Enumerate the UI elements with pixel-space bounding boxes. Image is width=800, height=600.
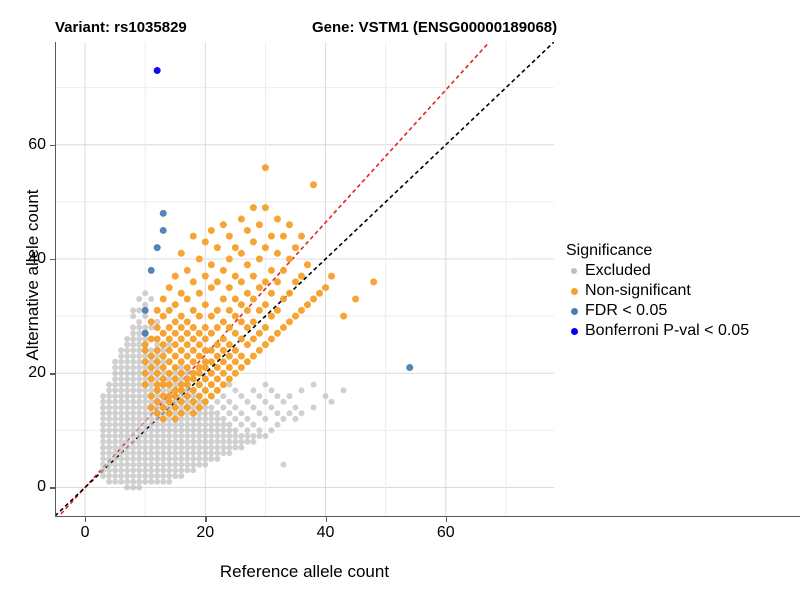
legend-item-label: FDR < 0.05	[585, 303, 667, 319]
x-tick-label: 0	[81, 524, 90, 542]
x-tick-mark	[446, 517, 447, 522]
gene-title: Gene: VSTM1 (ENSG00000189068)	[312, 19, 557, 36]
legend-swatch-icon	[566, 303, 582, 319]
x-tick-label: 40	[317, 524, 335, 542]
x-tick-mark	[326, 517, 327, 522]
legend-items: ExcludedNon-significantFDR < 0.05Bonferr…	[566, 261, 749, 341]
y-tick-mark	[50, 373, 55, 374]
data-points	[55, 42, 554, 516]
y-tick-mark	[50, 145, 55, 146]
x-tick-label: 60	[437, 524, 455, 542]
variant-title: Variant: rs1035829	[55, 19, 187, 36]
legend-item-non-significant[interactable]: Non-significant	[566, 281, 749, 301]
legend-item-label: Excluded	[585, 263, 651, 279]
x-axis-line	[55, 516, 800, 517]
series-bonferroni-p-val-0-05	[154, 67, 161, 74]
legend-swatch-icon	[566, 263, 582, 279]
legend-dot-icon	[571, 288, 578, 295]
x-axis-title: Reference allele count	[55, 562, 554, 582]
legend-item-label: Non-significant	[585, 283, 691, 299]
legend-dot-icon	[571, 268, 577, 274]
legend-item-bonferroni-p-val-0-05[interactable]: Bonferroni P-val < 0.05	[566, 321, 749, 341]
scatter-plot-figure: Variant: rs1035829 Gene: VSTM1 (ENSG0000…	[0, 0, 800, 600]
y-axis-line	[55, 42, 56, 517]
y-tick-mark	[50, 259, 55, 260]
y-tick-mark	[50, 487, 55, 488]
y-axis-title: Alternative allele count	[23, 125, 43, 425]
legend-swatch-icon	[566, 323, 582, 339]
x-tick-label: 20	[196, 524, 214, 542]
legend-title: Significance	[566, 242, 749, 260]
legend-dot-icon	[571, 308, 578, 315]
x-tick-mark	[205, 517, 206, 522]
x-tick-mark	[85, 517, 86, 522]
y-tick-label: 0	[37, 478, 46, 496]
legend: Significance ExcludedNon-significantFDR …	[566, 242, 749, 341]
legend-dot-icon	[571, 328, 578, 335]
legend-item-fdr-0-05[interactable]: FDR < 0.05	[566, 301, 749, 321]
plot-panel	[55, 42, 554, 516]
legend-item-label: Bonferroni P-val < 0.05	[585, 323, 749, 339]
legend-item-excluded[interactable]: Excluded	[566, 261, 749, 281]
legend-swatch-icon	[566, 283, 582, 299]
